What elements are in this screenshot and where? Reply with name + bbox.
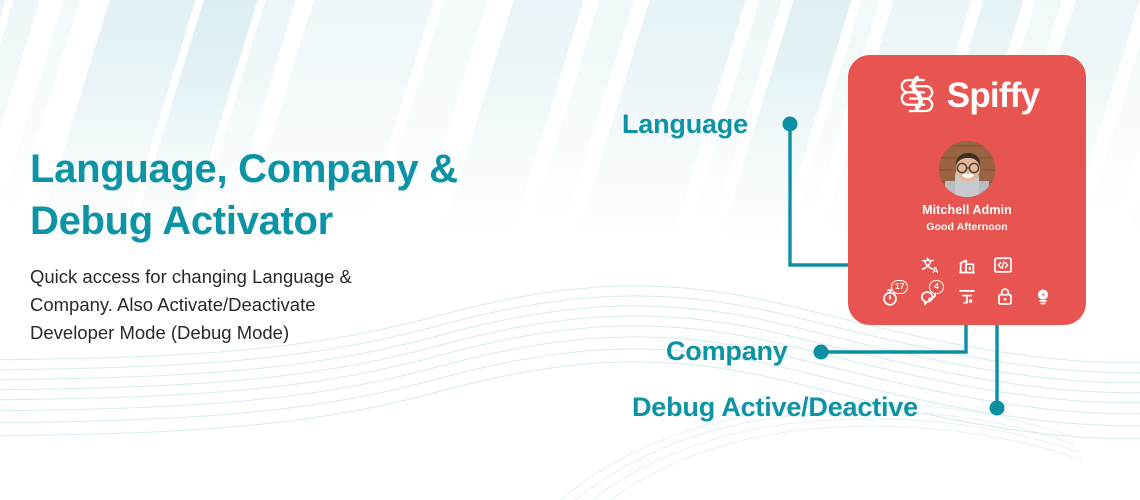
stopwatch-icon[interactable]: 17: [880, 285, 902, 307]
callout-label-company: Company: [666, 336, 788, 367]
spiffy-paperclip-logo-icon: [895, 74, 939, 116]
page-title: Language, Company & Debug Activator: [30, 143, 550, 247]
callout-dot-debug: [990, 401, 1005, 416]
card-primary-actions: 文 A: [848, 253, 1086, 277]
callout-dot-company: [814, 345, 829, 360]
stripe: [1118, 0, 1140, 260]
description-line-1: Quick access for changing Language &: [30, 263, 500, 291]
brand-name: Spiffy: [947, 78, 1039, 113]
lock-icon[interactable]: [994, 285, 1016, 307]
tasks-icon[interactable]: [956, 285, 978, 307]
page-description: Quick access for changing Language & Com…: [30, 263, 500, 347]
chat-badge-count: 4: [929, 280, 944, 294]
translate-icon[interactable]: 文 A: [920, 254, 942, 276]
user-avatar-photo: [939, 141, 995, 197]
callout-dot-language: [783, 117, 798, 132]
card-secondary-actions: 17 4: [848, 283, 1086, 309]
chat-bubbles-icon[interactable]: 4: [918, 285, 940, 307]
lightbulb-icon[interactable]: [1032, 285, 1054, 307]
svg-text:A: A: [932, 266, 938, 275]
callout-label-debug: Debug Active/Deactive: [632, 392, 918, 423]
code-brackets-icon[interactable]: [992, 254, 1014, 276]
avatar[interactable]: [939, 141, 995, 197]
headline-line-2: Debug Activator: [30, 195, 550, 247]
callout-label-language: Language: [622, 109, 748, 140]
user-profile-card: Spiffy: [848, 55, 1086, 325]
brand-logo: Spiffy: [848, 71, 1086, 119]
user-name: Mitchell Admin: [848, 203, 1086, 217]
building-icon[interactable]: [956, 254, 978, 276]
user-greeting: Good Afternoon: [848, 221, 1086, 233]
description-line-3: Developer Mode (Debug Mode): [30, 319, 500, 347]
stopwatch-badge-count: 17: [891, 280, 908, 294]
description-line-2: Company. Also Activate/Deactivate: [30, 291, 500, 319]
stripe: [0, 0, 18, 260]
promo-banner: Language, Company & Debug Activator Quic…: [0, 0, 1140, 500]
headline-line-1: Language, Company &: [30, 143, 550, 195]
